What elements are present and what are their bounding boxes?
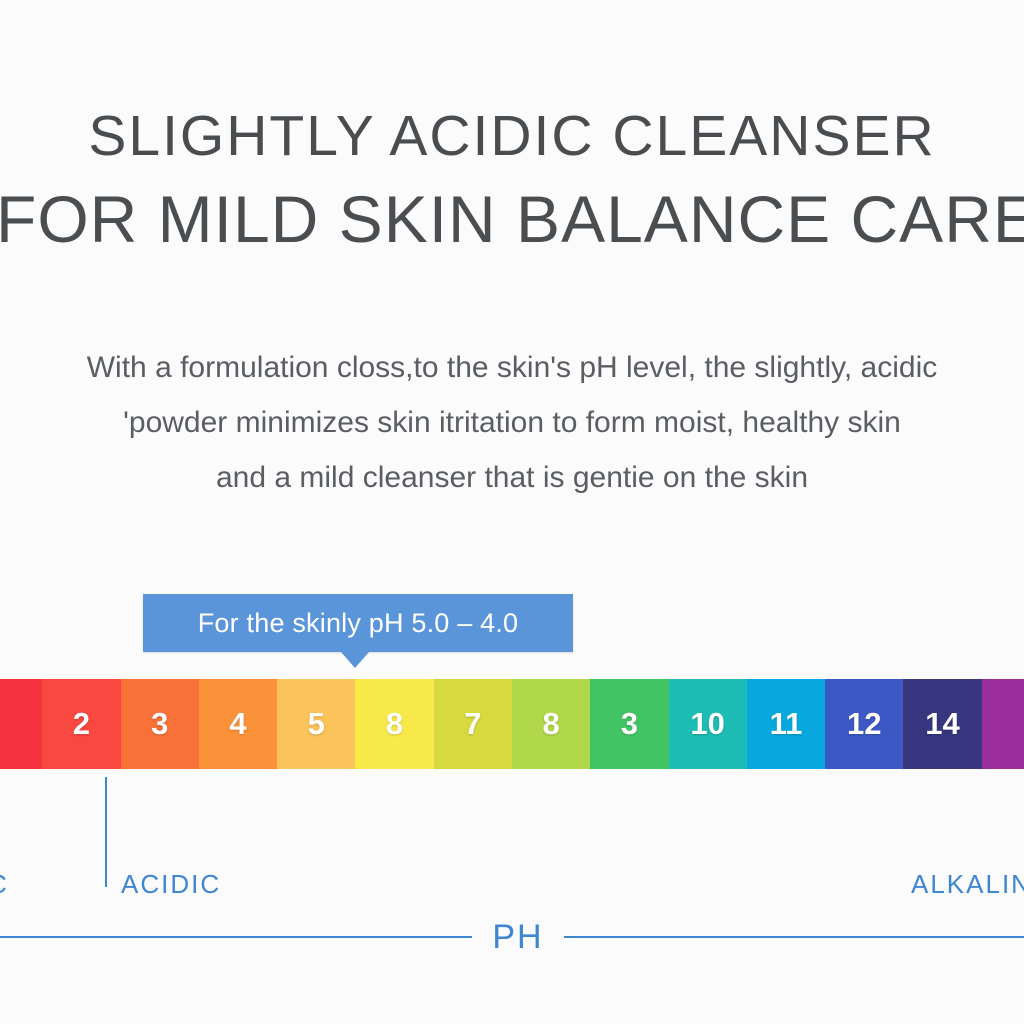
headline-line-1: SLIGHTLY ACIDIC CLEANSER <box>0 96 1024 176</box>
ph-scale-cell-label: 5 <box>277 706 355 742</box>
ph-scale-cell-label: 14 <box>903 706 981 742</box>
zone-label-alkaline: ALKALINE <box>911 869 1024 900</box>
zone-label-acidic: ACIDIC <box>121 869 221 900</box>
ph-scale-cell: 11 <box>747 679 825 769</box>
skin-ph-callout-label: For the skinly pH 5.0 – 4.0 <box>143 594 573 652</box>
ph-scale-cell-label: 10 <box>669 706 747 742</box>
ph-infographic-canvas: SLIGHTLY ACIDIC CLEANSER FOR MILD SKIN B… <box>0 0 1024 1024</box>
ph-scale-cell: 8 <box>355 679 433 769</box>
ph-scale-cell-label: 7 <box>434 706 512 742</box>
body-line-3: and a mild cleanser that is gentie on th… <box>0 450 1024 505</box>
ph-scale-cell-label: 3 <box>590 706 668 742</box>
headline-line-2: FOR MILD SKIN BALANCE CARE <box>0 176 1024 262</box>
skin-ph-callout: For the skinly pH 5.0 – 4.0 <box>143 594 573 652</box>
body-line-2: 'powder minimizes skin itritation to for… <box>0 395 1024 450</box>
zone-label-acidic-clipped: C <box>0 869 9 900</box>
ph-axis-label: PH <box>472 915 564 959</box>
callout-pointer-icon <box>341 652 369 668</box>
ph-scale-cell-label: 8 <box>355 706 433 742</box>
ph-scale-cell <box>0 679 42 769</box>
headline-block: SLIGHTLY ACIDIC CLEANSER FOR MILD SKIN B… <box>0 96 1024 262</box>
ph-axis: PH <box>0 915 1024 971</box>
axis-rule-left <box>0 936 472 938</box>
ph-scale-cell: 2 <box>42 679 120 769</box>
ph-scale-cell: 10 <box>669 679 747 769</box>
ph-scale-cell-label: 4 <box>199 706 277 742</box>
ph-scale-cell: 7 <box>434 679 512 769</box>
body-paragraph: With a formulation closs,to the skin's p… <box>0 340 1024 505</box>
ph-scale-cell: 5 <box>277 679 355 769</box>
acidic-tick-mark <box>105 777 107 887</box>
ph-scale-cell-label: 3 <box>121 706 199 742</box>
ph-scale-cell <box>982 679 1024 769</box>
ph-scale-cell: 12 <box>825 679 903 769</box>
ph-scale-cell-label: 11 <box>747 706 825 742</box>
ph-scale-cell: 8 <box>512 679 590 769</box>
ph-scale-cell: 14 <box>903 679 981 769</box>
ph-scale-cell-label: 8 <box>512 706 590 742</box>
ph-scale-cell: 4 <box>199 679 277 769</box>
ph-color-scale: 2345878310111214 <box>0 679 1024 769</box>
ph-scale-cell-label: 12 <box>825 706 903 742</box>
ph-scale-cell-label: 2 <box>42 706 120 742</box>
ph-scale-cell: 3 <box>590 679 668 769</box>
axis-rule-right <box>564 936 1024 938</box>
body-line-1: With a formulation closs,to the skin's p… <box>0 340 1024 395</box>
ph-scale-cell: 3 <box>121 679 199 769</box>
